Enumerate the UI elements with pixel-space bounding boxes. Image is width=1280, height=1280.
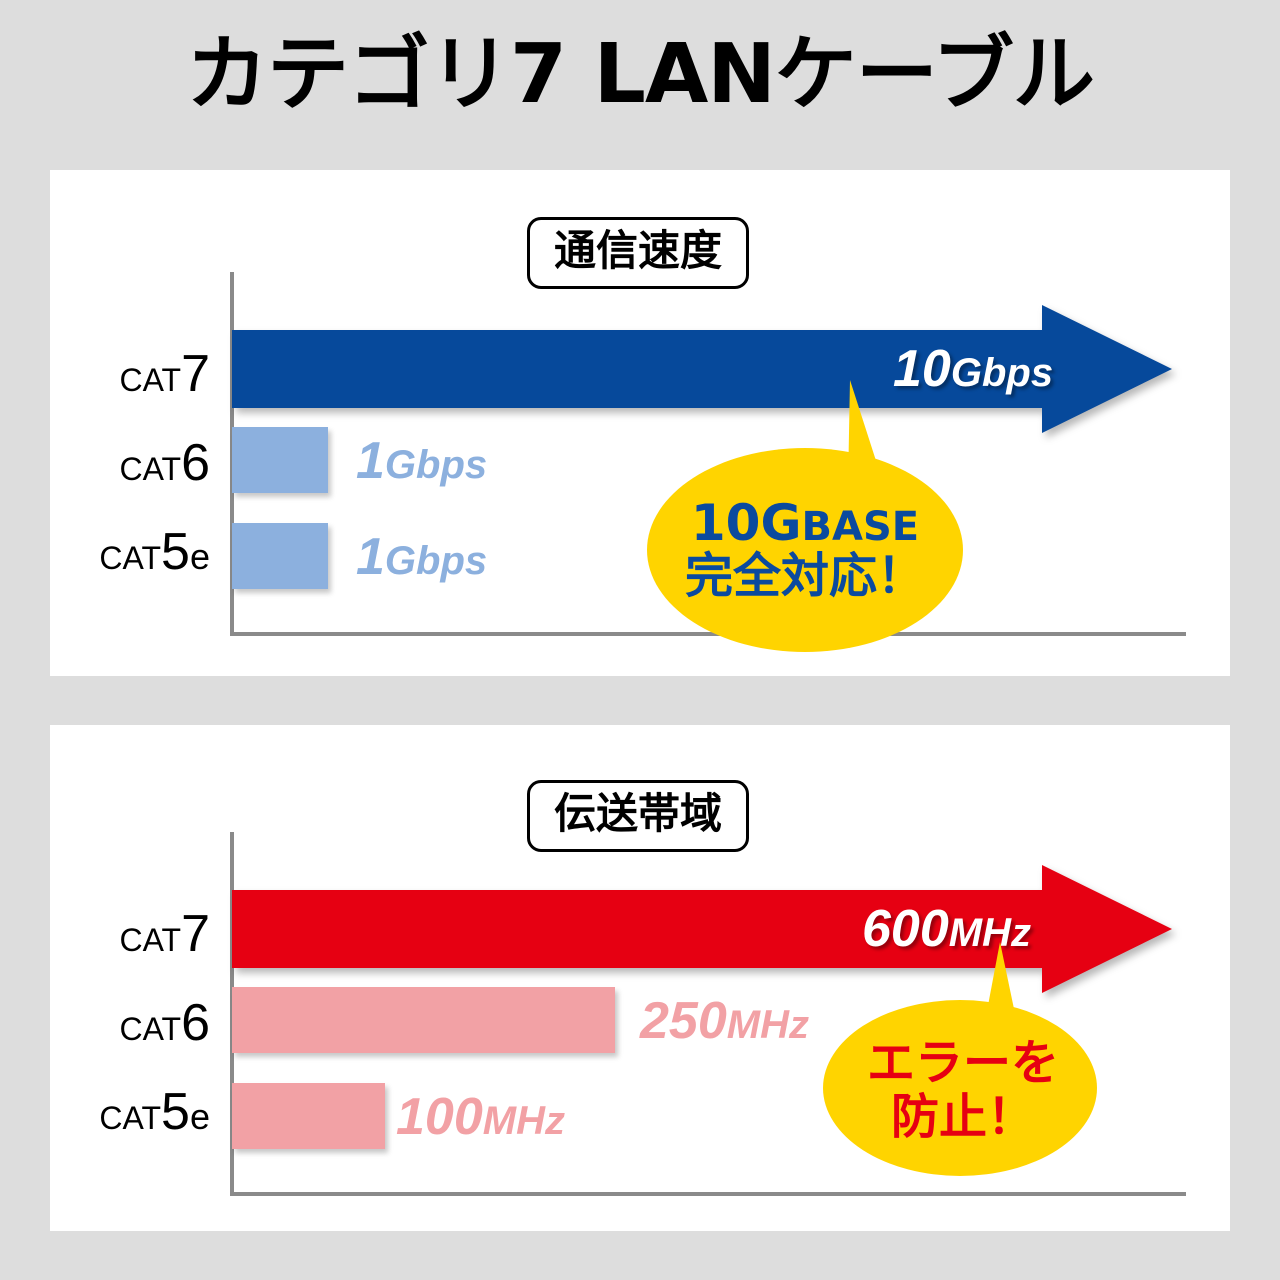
callout-line1-small: BASE — [802, 504, 920, 550]
cat-number: 6 — [181, 434, 210, 492]
band-value-cat6: 250MHz — [640, 995, 809, 1047]
cat-number: 5 — [161, 523, 190, 581]
band-category-label-cat5e: CAT5e — [50, 1086, 210, 1138]
callout-line2: 防止！ — [818, 1092, 1108, 1144]
cat-suffix: e — [190, 1096, 210, 1137]
value-number: 1 — [356, 432, 385, 490]
cat-number: 7 — [181, 345, 210, 403]
callout-line1: エラーを — [818, 1038, 1108, 1090]
cat-number: 7 — [181, 905, 210, 963]
callout-line2: 完全対応！ — [640, 551, 970, 603]
value-unit: MHz — [727, 1003, 809, 1047]
cat-prefix: CAT — [99, 540, 161, 576]
band-chart-x-axis — [230, 1192, 1186, 1196]
value-number: 1 — [356, 528, 385, 586]
speed-bar-cat6 — [232, 427, 328, 493]
band-category-label-cat6: CAT6 — [50, 997, 210, 1049]
speed-value-cat6: 1Gbps — [356, 435, 487, 487]
cat-suffix: e — [190, 536, 210, 577]
speed-value-cat5e: 1Gbps — [356, 531, 487, 583]
speed-category-label-cat6: CAT6 — [50, 437, 210, 489]
cat-prefix: CAT — [119, 362, 181, 398]
speed-category-label-cat5e: CAT5e — [50, 526, 210, 578]
cat-prefix: CAT — [119, 451, 181, 487]
cat-prefix: CAT — [119, 922, 181, 958]
cat-number: 6 — [181, 994, 210, 1052]
value-unit: Gbps — [385, 443, 487, 487]
band-category-label-cat7: CAT7 — [50, 908, 210, 960]
callout-error-prevention: エラーを 防止！ — [818, 940, 1108, 1185]
speed-category-label-cat7: CAT7 — [50, 348, 210, 400]
band-bar-cat5e — [232, 1083, 385, 1149]
callout-line1: 10GBASE — [640, 496, 970, 550]
infographic-page: カテゴリ7 LANケーブル 通信速度 CAT7 CAT6 CAT5e 10Gbp… — [0, 0, 1280, 1280]
callout-10gbase: 10GBASE 完全対応！ — [640, 378, 970, 663]
value-number: 100 — [396, 1088, 483, 1146]
speed-bar-cat5e — [232, 523, 328, 589]
cat-number: 5 — [161, 1083, 190, 1141]
band-bar-cat6 — [232, 987, 615, 1053]
cat-prefix: CAT — [99, 1100, 161, 1136]
band-value-cat5e: 100MHz — [396, 1091, 565, 1143]
callout-line1-big: 10G — [691, 494, 802, 552]
section-label-transmission-bandwidth: 伝送帯域 — [527, 780, 749, 852]
value-unit: MHz — [483, 1099, 565, 1143]
page-title: カテゴリ7 LANケーブル — [0, 30, 1280, 120]
value-unit: Gbps — [385, 539, 487, 583]
cat-prefix: CAT — [119, 1011, 181, 1047]
section-label-communication-speed: 通信速度 — [527, 217, 749, 289]
value-number: 250 — [640, 992, 727, 1050]
